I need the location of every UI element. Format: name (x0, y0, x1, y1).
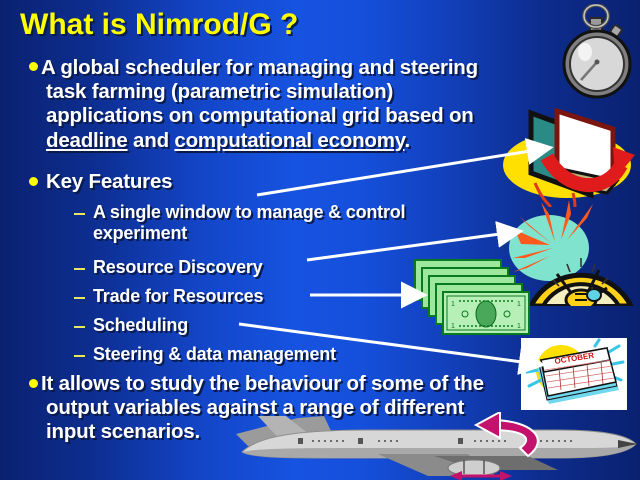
stopwatch-icon (560, 4, 638, 100)
presentation-slide: 1 1 1 1 OCTOBER (0, 0, 640, 480)
sub-bullet-1-line-2: experiment (93, 223, 493, 244)
dash-marker-4 (74, 326, 85, 328)
dash-marker-1 (74, 213, 85, 215)
bullet-1-line-4-post: . (404, 129, 410, 152)
deadline-term: deadline (46, 129, 128, 152)
sub-bullet-scheduling: Scheduling (93, 315, 188, 336)
bullet-1: A global scheduler for managing and stee… (41, 56, 531, 153)
svg-text:1: 1 (517, 301, 521, 308)
sub-bullet-trade-for-resources: Trade for Resources (93, 286, 263, 307)
bullet-3-line-3: input scenarios. (46, 420, 541, 444)
sub-bullet-1-line-1: A single window to manage & control (93, 202, 493, 223)
bullet-3: It allows to study the behaviour of some… (41, 372, 541, 445)
svg-text:1: 1 (451, 323, 455, 330)
bullet-marker-1 (29, 62, 38, 71)
dollar-bills-icon: 1 1 1 1 (413, 258, 533, 340)
dash-marker-5 (74, 355, 85, 357)
bullet-marker-2 (29, 177, 38, 186)
dash-marker-3 (74, 297, 85, 299)
slide-title: What is Nimrod/G ? (20, 8, 298, 42)
svg-text:1: 1 (517, 323, 521, 330)
bullet-key-features: Key Features (46, 170, 172, 194)
bullet-3-line-1: It allows to study the behaviour of some… (41, 372, 541, 396)
bullet-1-line-1: A global scheduler for managing and stee… (41, 56, 531, 80)
svg-text:1: 1 (451, 301, 455, 308)
bullet-marker-3 (29, 379, 38, 388)
bullet-1-line-4-mid: and (128, 129, 175, 152)
economy-term: computational economy (174, 129, 404, 152)
bullet-1-line-2: task farming (parametric simulation) (46, 80, 531, 104)
bullet-1-line-4: deadline and computational economy. (46, 129, 531, 153)
sub-bullet-resource-discovery: Resource Discovery (93, 257, 263, 278)
bullet-3-line-2: output variables against a range of diff… (46, 396, 541, 420)
dash-marker-2 (74, 268, 85, 270)
bullet-1-line-3: applications on computational grid based… (46, 104, 531, 128)
arrow-to-door (257, 151, 530, 195)
sub-bullet-single-window: A single window to manage & control expe… (93, 202, 493, 244)
sub-bullet-steering: Steering & data management (93, 344, 336, 365)
